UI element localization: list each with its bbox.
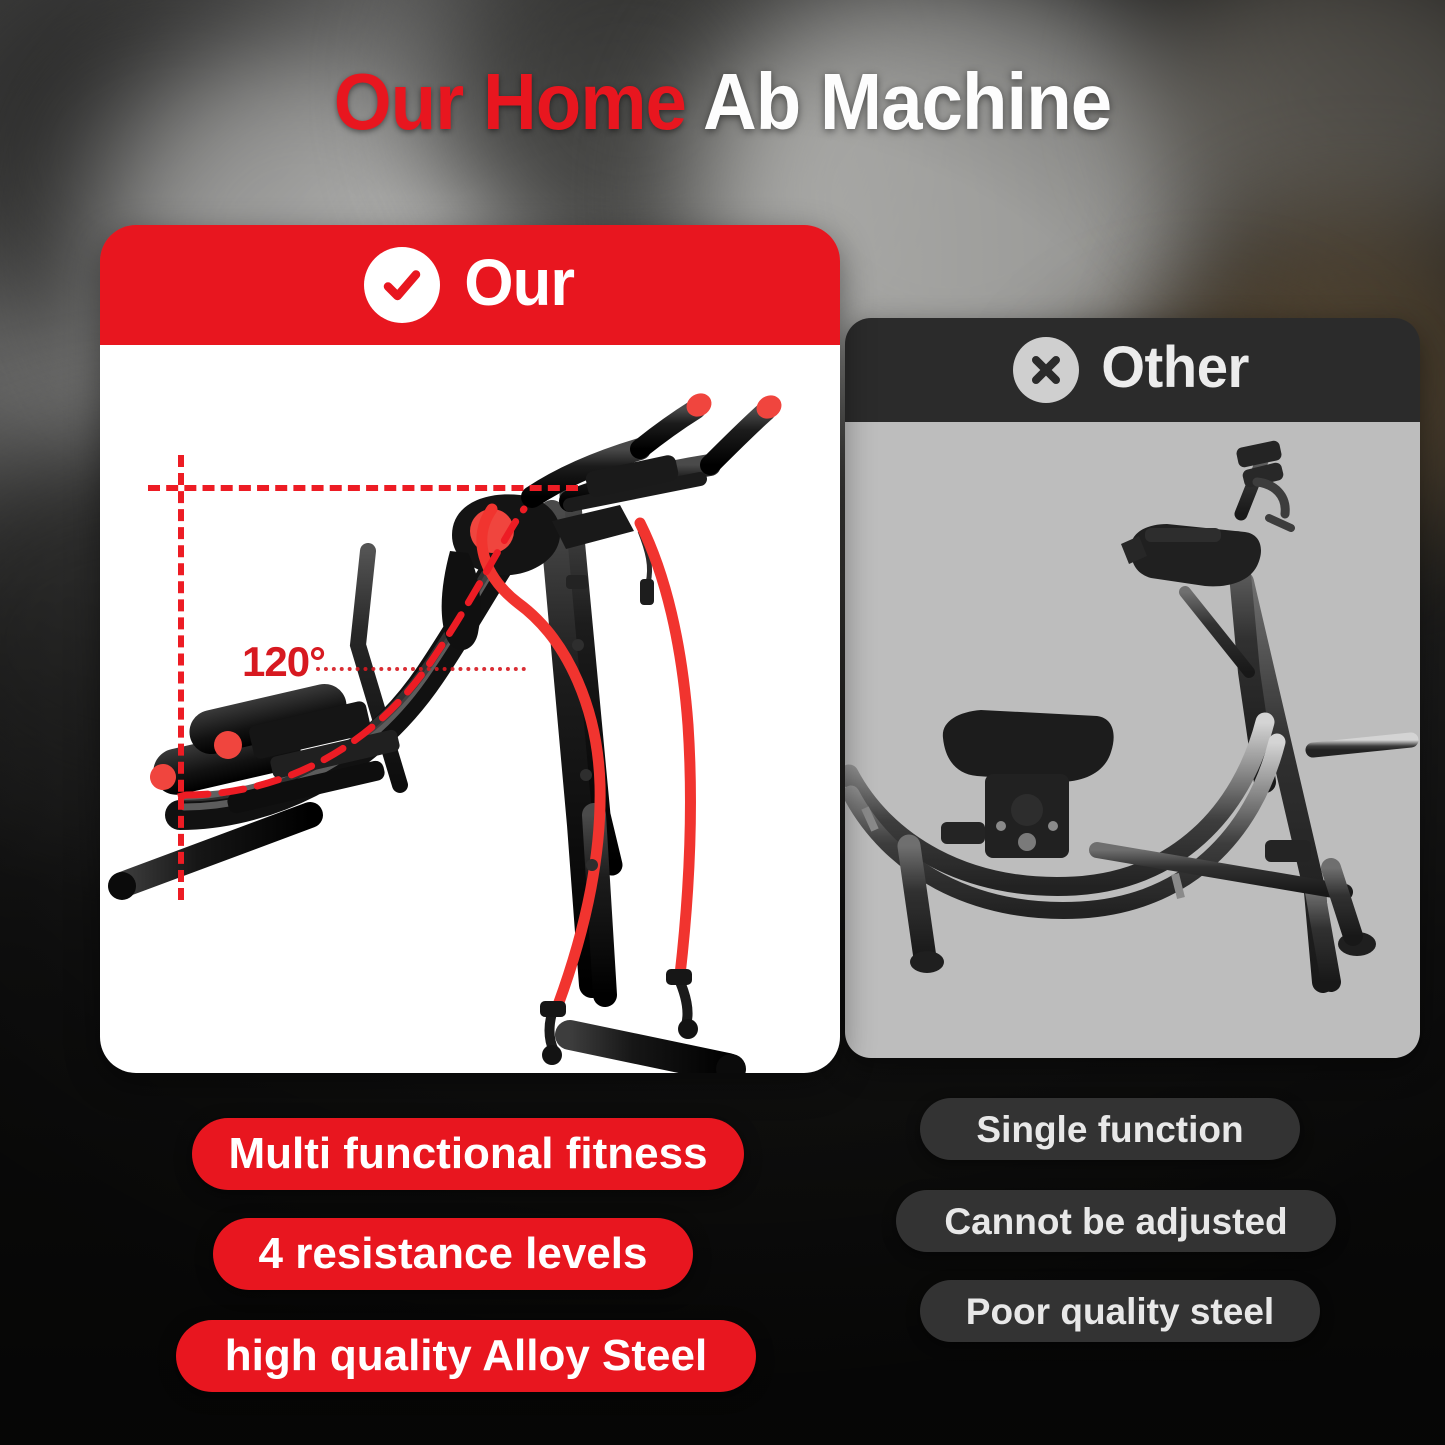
other-product-card: Other: [845, 318, 1420, 1058]
other-card-header-label: Other: [1102, 339, 1250, 397]
other-feature-pill: Poor quality steel: [920, 1280, 1320, 1342]
other-feature-label: Cannot be adjusted: [944, 1203, 1287, 1240]
our-feature-label: 4 resistance levels: [259, 1232, 648, 1276]
our-feature-pill: Multi functional fitness: [192, 1118, 744, 1190]
page-title-rest: Ab Machine: [686, 57, 1111, 146]
other-feature-pill: Single function: [920, 1098, 1300, 1160]
our-feature-label: Multi functional fitness: [228, 1132, 707, 1176]
our-product-image: 120°: [100, 345, 840, 1073]
our-product-card: Our: [100, 225, 840, 1073]
other-product-illustration: [845, 422, 1420, 1058]
our-card-header: Our: [100, 225, 840, 345]
our-feature-pill: high quality Alloy Steel: [176, 1320, 756, 1392]
page-title: Our Home Ab Machine: [51, 62, 1395, 142]
competitor-machine-graphic: [845, 422, 1420, 1058]
our-product-illustration: 120°: [100, 345, 840, 1073]
our-card-header-label: Our: [464, 249, 574, 315]
angle-dashed-path: [100, 345, 840, 1073]
other-product-image: [845, 422, 1420, 1058]
page-title-highlight: Our Home: [334, 57, 686, 146]
our-feature-pill: 4 resistance levels: [213, 1218, 693, 1290]
angle-leader-line: [316, 667, 526, 671]
check-circle-icon: [364, 247, 440, 323]
product-comparison-poster: Our Home Ab Machine Our: [0, 0, 1445, 1445]
our-feature-label: high quality Alloy Steel: [225, 1334, 707, 1378]
angle-value-label: 120°: [242, 641, 325, 683]
other-feature-label: Poor quality steel: [966, 1293, 1274, 1330]
x-circle-icon: [1013, 337, 1079, 403]
other-feature-pill: Cannot be adjusted: [896, 1190, 1336, 1252]
other-card-header: Other: [845, 318, 1420, 422]
other-feature-label: Single function: [976, 1111, 1243, 1148]
